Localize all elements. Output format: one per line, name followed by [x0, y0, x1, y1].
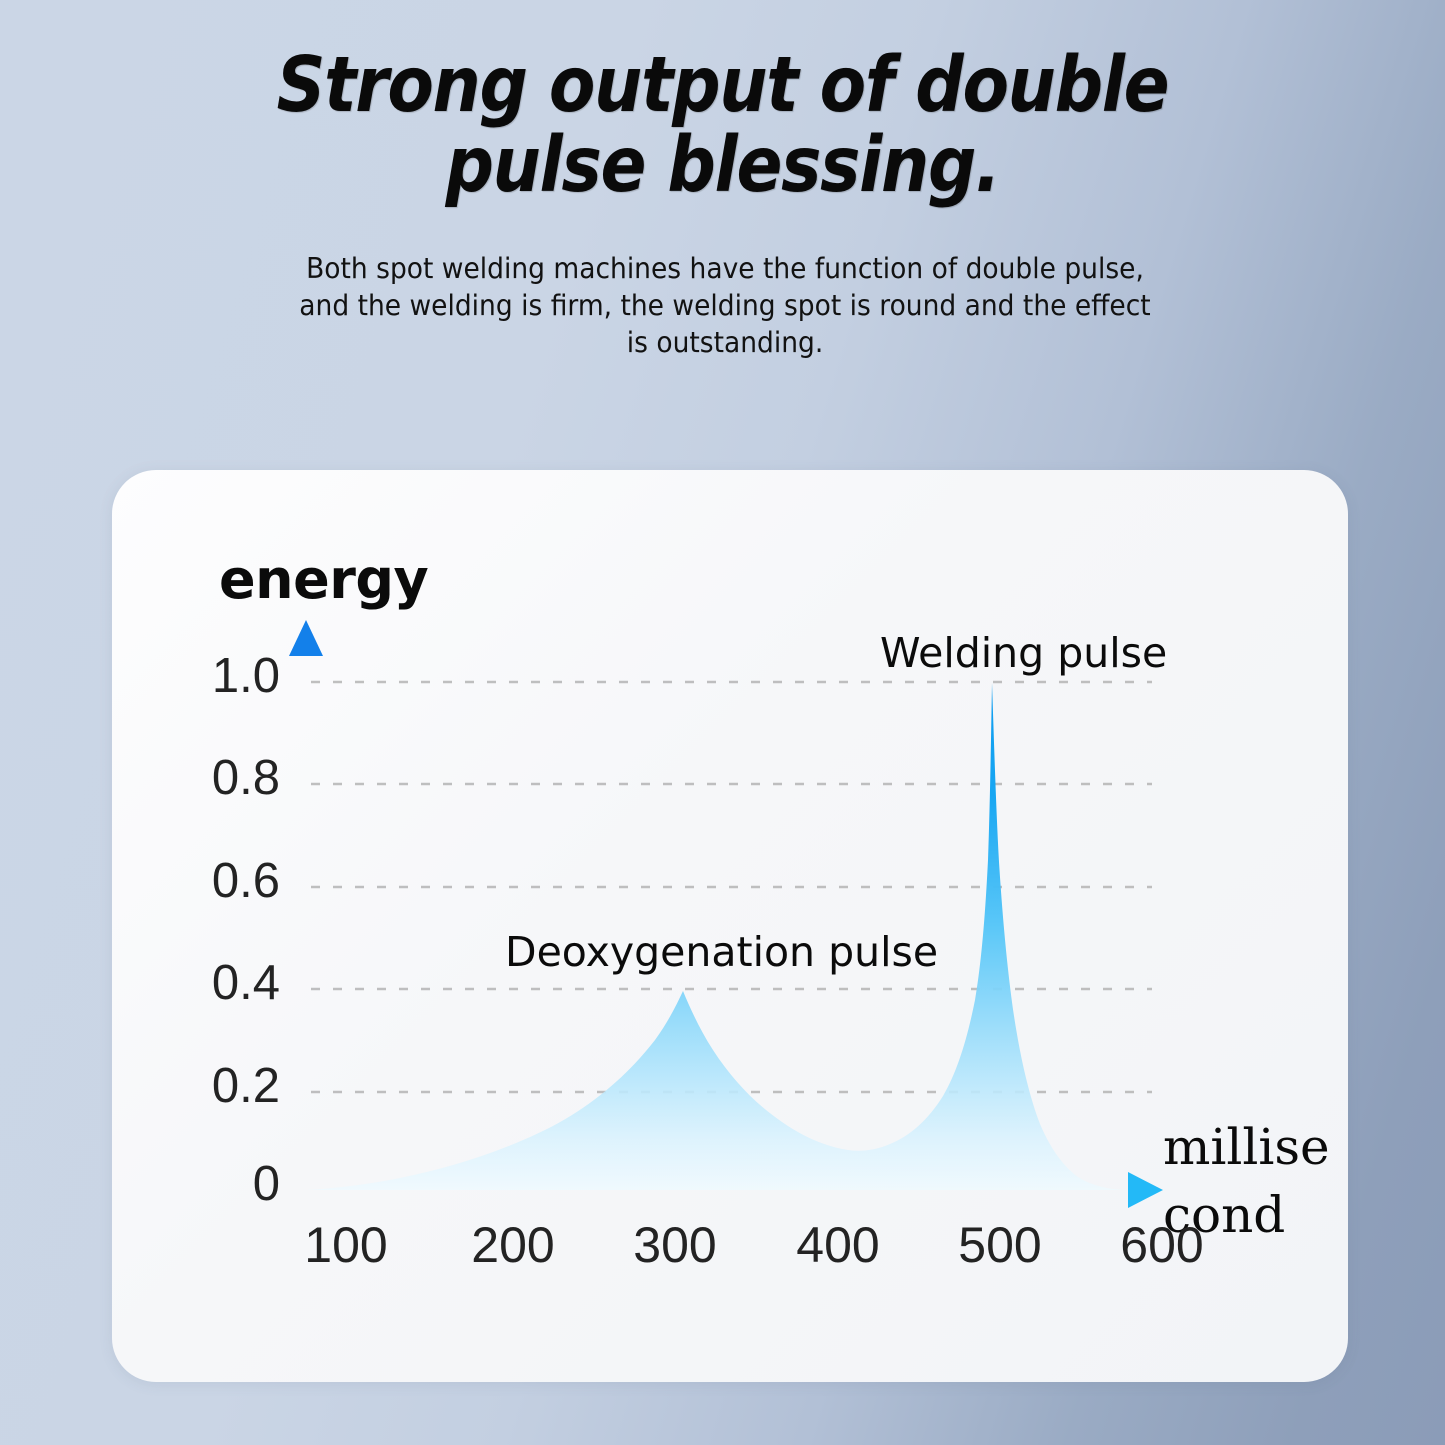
chart-card [112, 470, 1348, 1382]
headline-line-1: Strong output of double [277, 41, 1169, 130]
page-subtitle: Both spot welding machines have the func… [288, 250, 1162, 361]
headline-line-2: pulse blessing. [87, 126, 1359, 206]
page-root: Strong output of double pulse blessing. … [0, 0, 1445, 1445]
page-title: Strong output of double pulse blessing. [87, 46, 1359, 206]
